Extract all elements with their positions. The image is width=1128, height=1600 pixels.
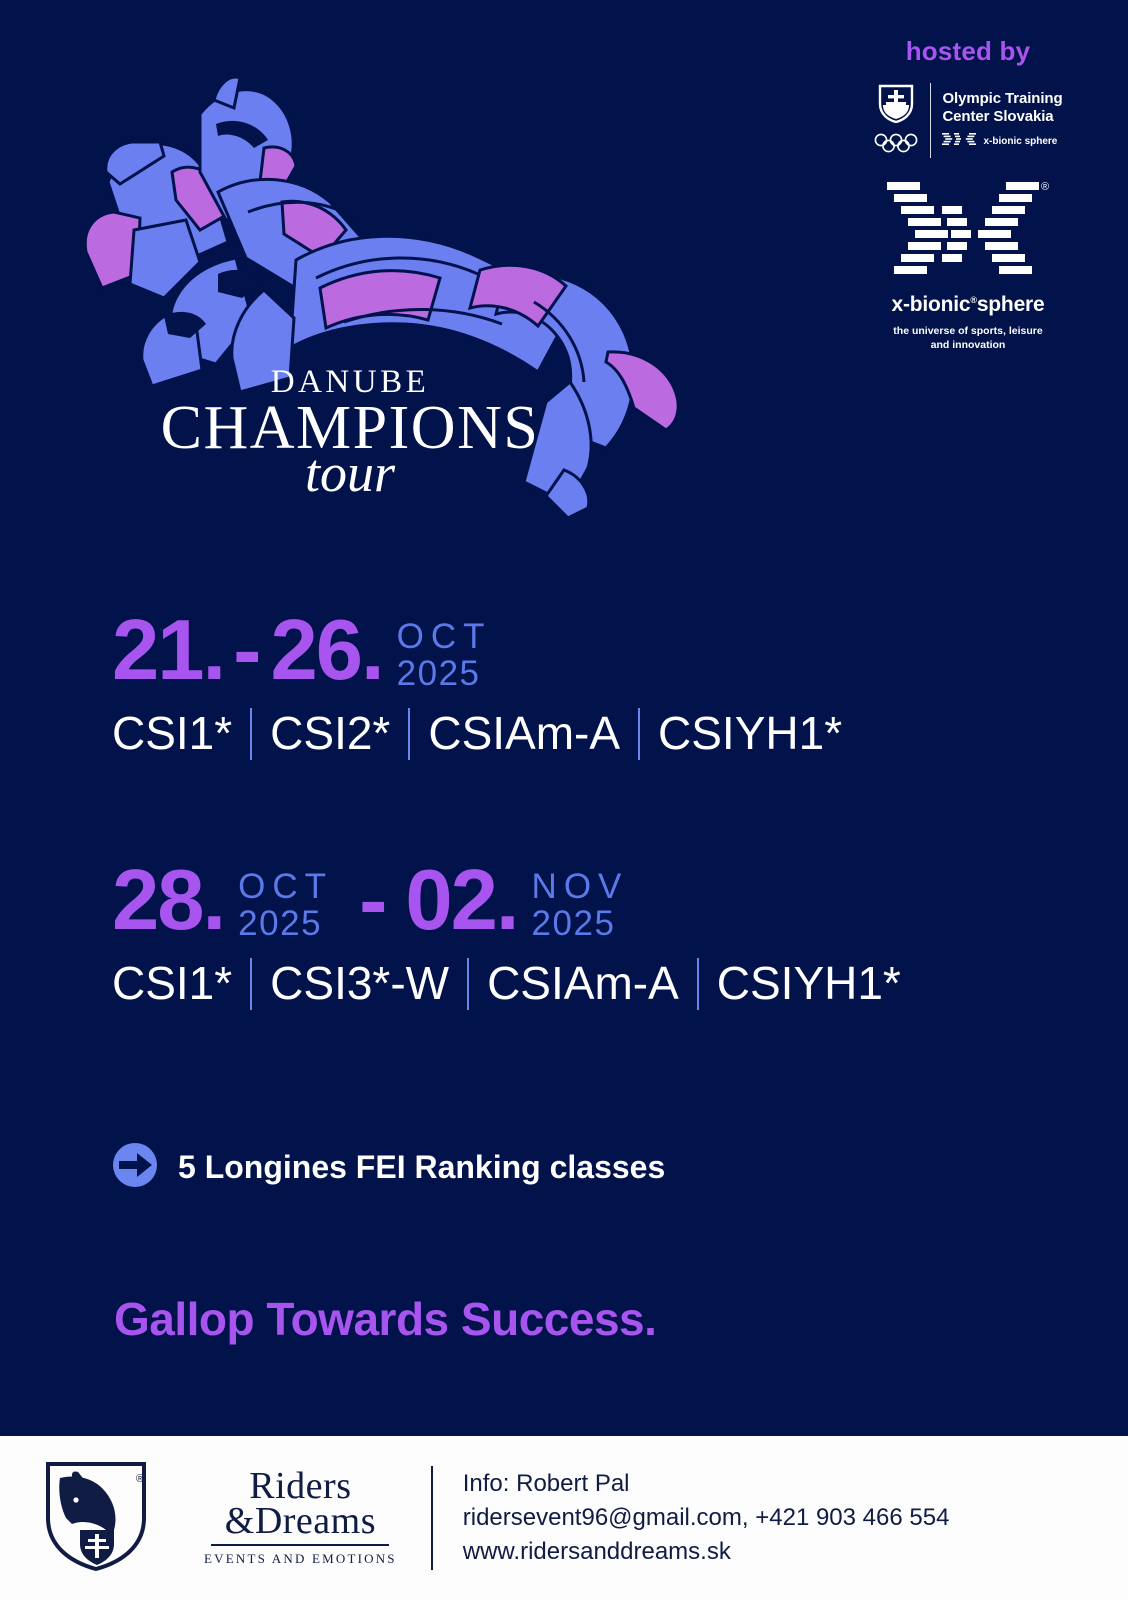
event-1-dates: 21. - 26. OCT 2025	[112, 612, 1068, 692]
x-bionic-x-mark-icon	[942, 132, 976, 151]
event-1-class-1: CSI2*	[270, 708, 390, 760]
xb-tagline-line2: and innovation	[860, 338, 1076, 352]
poster-tagline: Gallop Towards Success.	[114, 1292, 656, 1346]
svg-text:®: ®	[136, 1473, 144, 1485]
event-2-class-1: CSI3*-W	[270, 958, 449, 1010]
contact-line-2: ridersevent96@gmail.com, +421 903 466 55…	[463, 1501, 950, 1535]
rd-subtitle: EVENTS AND EMOTIONS	[204, 1551, 397, 1567]
event-2-dash: -	[333, 862, 405, 940]
hosted-by-label: hosted by	[868, 36, 1068, 67]
event-2-classes: CSI1* CSI3*-W CSIAm-A CSIYH1*	[112, 958, 1068, 1010]
olympic-rings-icon	[873, 133, 919, 158]
circle-arrow-right-icon	[112, 1142, 158, 1193]
horse-head-shield-crest-icon: ®	[44, 1460, 148, 1577]
event-2-end-year: 2025	[532, 905, 629, 942]
rd-rule	[211, 1544, 389, 1546]
event-poster: DANUBE CHAMPIONS tour hosted by	[0, 0, 1128, 1600]
event-2-start-day: 28.	[112, 862, 224, 940]
class-separator	[638, 708, 640, 760]
footer-divider	[431, 1466, 433, 1570]
event-1-start-day: 21.	[112, 612, 224, 690]
class-separator	[467, 958, 469, 1010]
otc-sub-label: x-bionic sphere	[983, 136, 1057, 147]
class-separator	[250, 708, 252, 760]
x-bionic-sphere-logo: ® x-bionic®sphere the universe of sports…	[860, 180, 1076, 352]
event-block-2: 28. OCT 2025 - 02. NOV 2025 CSI1* CSI3*-…	[112, 862, 1068, 1010]
rd-ampersand: &	[225, 1500, 255, 1542]
event-2-start-year: 2025	[238, 905, 333, 942]
x-bionic-sphere-wordmark: x-bionic®sphere	[860, 293, 1076, 317]
ranking-classes-label: 5 Longines FEI Ranking classes	[178, 1149, 665, 1186]
event-2-end-day: 02.	[405, 862, 517, 940]
event-2-start-month: OCT	[238, 868, 333, 905]
contact-info: Info: Robert Pal ridersevent96@gmail.com…	[463, 1467, 950, 1569]
event-1-classes: CSI1* CSI2* CSIAm-A CSIYH1*	[112, 708, 1068, 760]
event-2-class-0: CSI1*	[112, 958, 232, 1010]
otc-name-line1: Olympic Training	[942, 90, 1062, 108]
class-separator	[697, 958, 699, 1010]
olympic-training-center-logo: Olympic Training Center Slovakia	[868, 83, 1068, 158]
hosted-by-block: hosted by	[868, 36, 1068, 158]
event-2-dates: 28. OCT 2025 - 02. NOV 2025	[112, 862, 1068, 942]
ranking-classes-row: 5 Longines FEI Ranking classes	[112, 1142, 665, 1193]
event-2-class-3: CSIYH1*	[717, 958, 901, 1010]
event-1-class-0: CSI1*	[112, 708, 232, 760]
rd-dreams: Dreams	[255, 1500, 376, 1542]
otc-name-line2: Center Slovakia	[942, 108, 1062, 126]
event-block-1: 21. - 26. OCT 2025 CSI1* CSI2* CSIAm-A C…	[112, 612, 1068, 760]
event-1-class-2: CSIAm-A	[428, 708, 620, 760]
rd-line-2: &Dreams	[204, 1504, 397, 1539]
brand-lockup: DANUBE CHAMPIONS tour	[150, 366, 550, 500]
event-1-class-3: CSIYH1*	[658, 708, 842, 760]
xb-name-main: x-bionic	[891, 293, 970, 316]
footer: ® Riders &Dreams EVENTS AND EMOTIONS Inf…	[0, 1436, 1128, 1600]
event-1-end-year: 2025	[397, 655, 492, 692]
rd-line-1: Riders	[204, 1469, 397, 1504]
x-bionic-x-mark-icon	[887, 180, 1039, 283]
xb-name-tail: sphere	[977, 293, 1045, 316]
class-separator	[408, 708, 410, 760]
event-1-end-day: 26.	[270, 612, 382, 690]
logo-divider	[930, 83, 931, 158]
event-2-class-2: CSIAm-A	[487, 958, 679, 1010]
event-1-end-month: OCT	[397, 618, 492, 655]
contact-line-1: Info: Robert Pal	[463, 1467, 950, 1501]
event-2-end-month: NOV	[532, 868, 629, 905]
contact-line-3[interactable]: www.ridersanddreams.sk	[463, 1535, 950, 1569]
registered-mark: ®	[1041, 182, 1049, 193]
xb-tagline-line1: the universe of sports, leisure	[860, 324, 1076, 338]
event-1-dash: -	[224, 612, 270, 690]
slovak-double-cross-shield-icon	[877, 83, 915, 128]
class-separator	[250, 958, 252, 1010]
riders-and-dreams-logo: Riders &Dreams EVENTS AND EMOTIONS	[204, 1469, 397, 1567]
